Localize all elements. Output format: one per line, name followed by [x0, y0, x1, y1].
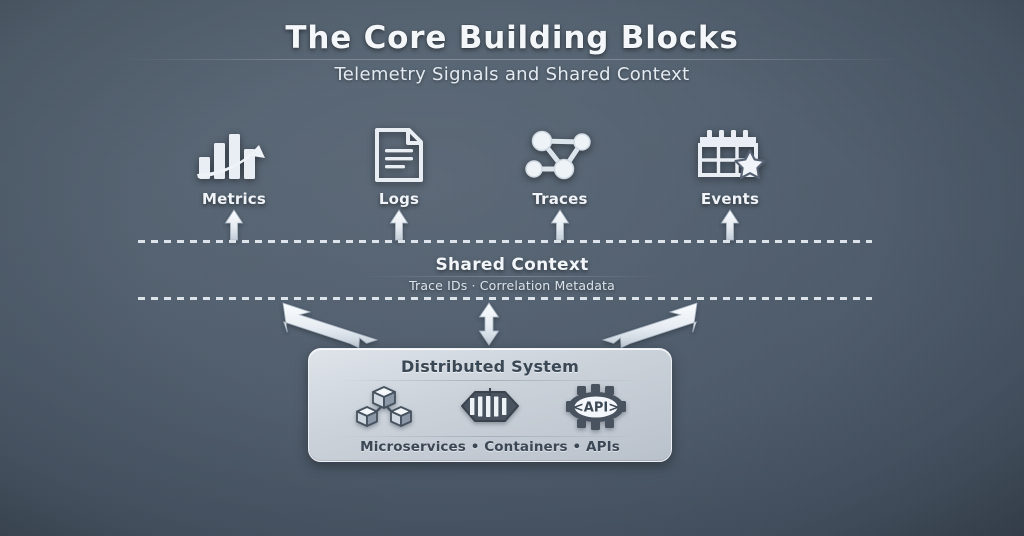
signal-events[interactable]: Events	[670, 126, 790, 208]
panel-divider-bottom	[335, 436, 645, 437]
document-lines-icon	[339, 126, 459, 184]
shared-context-rule	[360, 276, 664, 277]
shared-context-top-divider	[138, 240, 872, 243]
slide-canvas: The Core Building Blocks Telemetry Signa…	[0, 0, 1024, 536]
signal-metrics[interactable]: Metrics	[174, 126, 294, 208]
signal-label: Logs	[339, 190, 459, 208]
panel-divider-top	[335, 380, 645, 381]
uplink-arrow-logs	[391, 210, 408, 240]
shared-context-title: Shared Context	[0, 255, 1024, 275]
signal-logs[interactable]: Logs	[339, 126, 459, 208]
api-gear-label: <API>	[573, 401, 619, 416]
signal-label: Metrics	[174, 190, 294, 208]
shared-context-subtitle: Trace IDs · Correlation Metadata	[0, 278, 1024, 293]
container-icon	[459, 384, 521, 434]
page-title: The Core Building Blocks	[0, 20, 1024, 56]
distributed-system-title: Distributed System	[309, 357, 671, 376]
api-gear-icon: <API>	[565, 382, 627, 436]
page-subtitle: Telemetry Signals and Shared Context	[0, 64, 1024, 85]
uplink-arrow-events	[722, 210, 739, 240]
uplink-arrow-traces	[552, 210, 569, 240]
calendar-star-icon	[670, 126, 790, 184]
distributed-system-panel[interactable]: Distributed System	[308, 348, 672, 462]
signal-uplink-arrows	[226, 210, 739, 240]
signal-label: Traces	[500, 190, 620, 208]
signal-traces[interactable]: Traces	[500, 126, 620, 208]
right-diagonal-double-arrow	[603, 303, 697, 348]
signal-label: Events	[670, 190, 790, 208]
uplink-arrow-metrics	[226, 210, 243, 240]
microservices-cubes-icon	[353, 382, 415, 436]
node-graph-icon	[500, 126, 620, 184]
left-diagonal-double-arrow	[283, 303, 377, 348]
distributed-system-icons: <API>	[331, 383, 649, 435]
distributed-system-caption: Microservices • Containers • APIs	[309, 439, 671, 455]
title-divider	[120, 59, 904, 60]
shared-context-bottom-divider	[138, 297, 872, 300]
bar-chart-trend-icon	[174, 126, 294, 184]
center-vertical-double-arrow	[480, 303, 499, 345]
